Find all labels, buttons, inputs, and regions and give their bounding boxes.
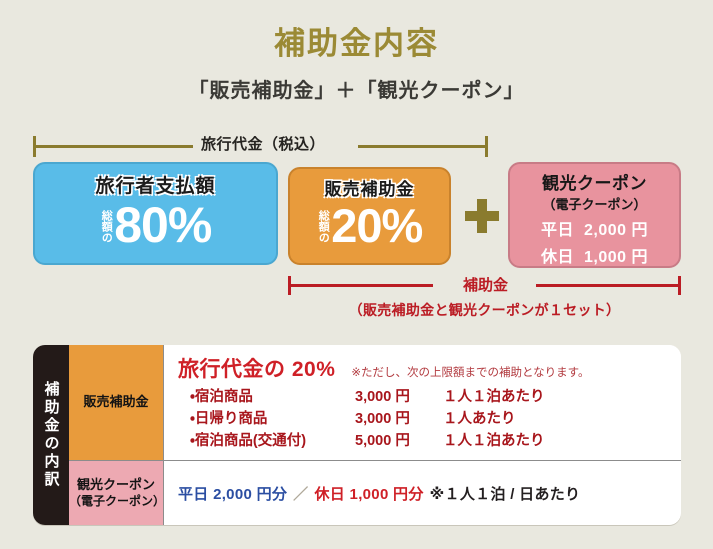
- tourism-coupon-box: 観光クーポン （電子クーポン） 平日2,000 円 休日1,000 円: [508, 162, 681, 268]
- list-item: ・宿泊商品(交通付) 5,000 円 １人１泊あたり: [190, 430, 669, 452]
- tourism-coupon-weekday-label: 平日: [541, 222, 574, 239]
- sales-subsidy-rate: 旅行代金の 20%: [178, 353, 335, 383]
- table-row-header-sales-subsidy-text: 販売補助金: [83, 394, 148, 410]
- traveler-payment-heading: 旅行者支払額: [35, 171, 276, 198]
- cap-item-name: ・宿泊商品: [190, 386, 355, 408]
- tourism-coupon-weekday-amount: 2,000 円: [584, 222, 648, 239]
- table-row-header-tourism-coupon-text: 観光クーポン: [77, 477, 155, 493]
- table-row: 販売補助金 旅行代金の 20% ※ただし、次の上限額までの補助となります。 ・宿…: [69, 345, 681, 461]
- table-row: 観光クーポン （電子クーポン） 平日 2,000 円分 ／ 休日 1,000 円…: [69, 461, 681, 525]
- coupon-weekday-value: 平日 2,000 円分: [178, 483, 287, 504]
- cap-item-unit: １人あたり: [443, 408, 516, 430]
- subsidy-bracket: 補助金: [288, 274, 681, 298]
- subsidy-breakdown-table: 補助金の内訳 販売補助金 旅行代金の 20% ※ただし、次の上限額までの補助とな…: [33, 345, 681, 525]
- tourism-coupon-holiday-amount: 1,000 円: [584, 249, 648, 266]
- subsidy-bracket-label: 補助金: [428, 274, 543, 295]
- cap-item-unit: １人１泊あたり: [443, 430, 545, 452]
- table-row-body-sales-subsidy: 旅行代金の 20% ※ただし、次の上限額までの補助となります。 ・宿泊商品 3,…: [164, 345, 681, 460]
- sales-subsidy-cap-list: ・宿泊商品 3,000 円 １人１泊あたり ・日帰り商品 3,000 円 １人あ…: [178, 386, 669, 452]
- tourism-coupon-subheading: （電子クーポン）: [510, 194, 679, 213]
- list-item: ・宿泊商品 3,000 円 １人１泊あたり: [190, 386, 669, 408]
- sales-subsidy-value: 総額の 20%: [290, 202, 449, 249]
- sales-subsidy-cap-note: ※ただし、次の上限額までの補助となります。: [351, 364, 589, 380]
- page-title: 補助金内容: [0, 18, 713, 63]
- table-row-header-tourism-coupon-sub: （電子クーポン）: [69, 494, 163, 509]
- cap-item-amount: 5,000 円: [355, 430, 443, 452]
- sales-subsidy-rate-line: 旅行代金の 20% ※ただし、次の上限額までの補助となります。: [178, 353, 669, 383]
- sales-subsidy-percent: 20%: [331, 202, 422, 249]
- page-subtitle: 「販売補助金」＋「観光クーポン」: [0, 74, 713, 103]
- table-row-header-sales-subsidy: 販売補助金: [69, 345, 164, 460]
- list-item: ・日帰り商品 3,000 円 １人あたり: [190, 408, 669, 430]
- plus-icon-vertical-bar: [477, 199, 487, 233]
- coupon-separator: ／: [293, 483, 308, 504]
- subsidy-bracket-line-left: [288, 284, 433, 287]
- table-body: 販売補助金 旅行代金の 20% ※ただし、次の上限額までの補助となります。 ・宿…: [69, 345, 681, 525]
- sales-subsidy-box: 販売補助金 総額の 20%: [288, 167, 451, 265]
- table-row-body-tourism-coupon: 平日 2,000 円分 ／ 休日 1,000 円分 ※１人１泊 / 日あたり: [164, 461, 580, 525]
- coupon-per-unit-note: ※１人１泊 / 日あたり: [430, 483, 581, 504]
- tourism-coupon-holiday-label: 休日: [541, 249, 574, 266]
- sales-subsidy-prefix: 総額の: [317, 210, 329, 243]
- bracket-tick-right: [485, 136, 488, 157]
- coupon-holiday-value: 休日 1,000 円分: [314, 483, 423, 504]
- tourism-coupon-holiday-row: 休日1,000 円: [510, 243, 679, 267]
- plus-icon: [462, 196, 502, 236]
- subsidy-bracket-note: （販売補助金と観光クーポンが１セット）: [288, 300, 681, 320]
- subsidy-bracket-line-right: [536, 284, 681, 287]
- traveler-payment-prefix: 総額の: [100, 210, 112, 243]
- tourism-coupon-heading: 観光クーポン: [510, 169, 679, 194]
- cap-item-name: ・日帰り商品: [190, 408, 355, 430]
- table-side-label: 補助金の内訳: [33, 345, 69, 525]
- travel-price-bracket: 旅行代金（税込）: [33, 133, 488, 159]
- bracket-label-travel-price: 旅行代金（税込）: [188, 133, 338, 154]
- traveler-payment-percent: 80%: [114, 200, 211, 250]
- bracket-line-left: [33, 145, 193, 148]
- traveler-payment-value: 総額の 80%: [35, 200, 276, 250]
- subsidy-bracket-tick-right: [678, 276, 681, 295]
- tourism-coupon-weekday-row: 平日2,000 円: [510, 216, 679, 240]
- cap-item-amount: 3,000 円: [355, 386, 443, 408]
- table-side-label-text: 補助金の内訳: [41, 381, 62, 489]
- cap-item-amount: 3,000 円: [355, 408, 443, 430]
- traveler-payment-box: 旅行者支払額 総額の 80%: [33, 162, 278, 265]
- bracket-line-right: [358, 145, 488, 148]
- sales-subsidy-heading: 販売補助金: [290, 175, 449, 200]
- cap-item-name: ・宿泊商品(交通付): [190, 430, 355, 452]
- infographic-page: 補助金内容 「販売補助金」＋「観光クーポン」 旅行代金（税込） 旅行者支払額 総…: [0, 0, 713, 549]
- table-row-header-tourism-coupon: 観光クーポン （電子クーポン）: [69, 461, 164, 525]
- cap-item-unit: １人１泊あたり: [443, 386, 545, 408]
